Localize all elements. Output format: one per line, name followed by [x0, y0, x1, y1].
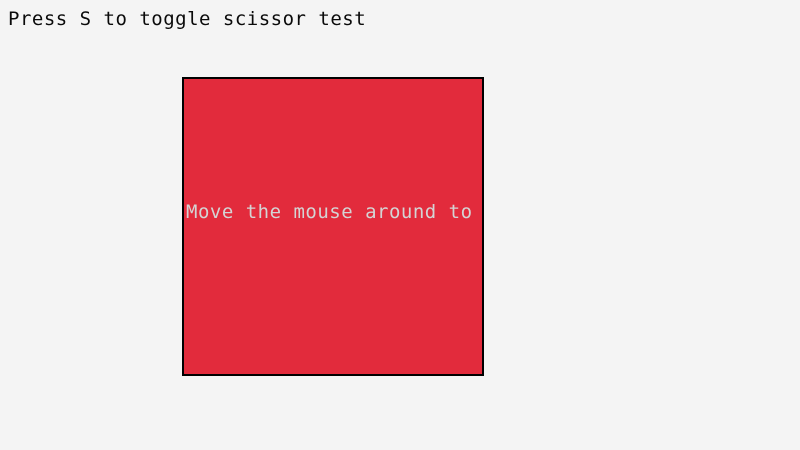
scissor-toggle-hint: Press S to toggle scissor test: [8, 9, 366, 29]
app-window: Press S to toggle scissor test Move the …: [0, 0, 800, 450]
scissor-clipped-message: Move the mouse around to reveal the full…: [186, 201, 484, 223]
scissor-region[interactable]: Move the mouse around to reveal the full…: [182, 77, 484, 376]
